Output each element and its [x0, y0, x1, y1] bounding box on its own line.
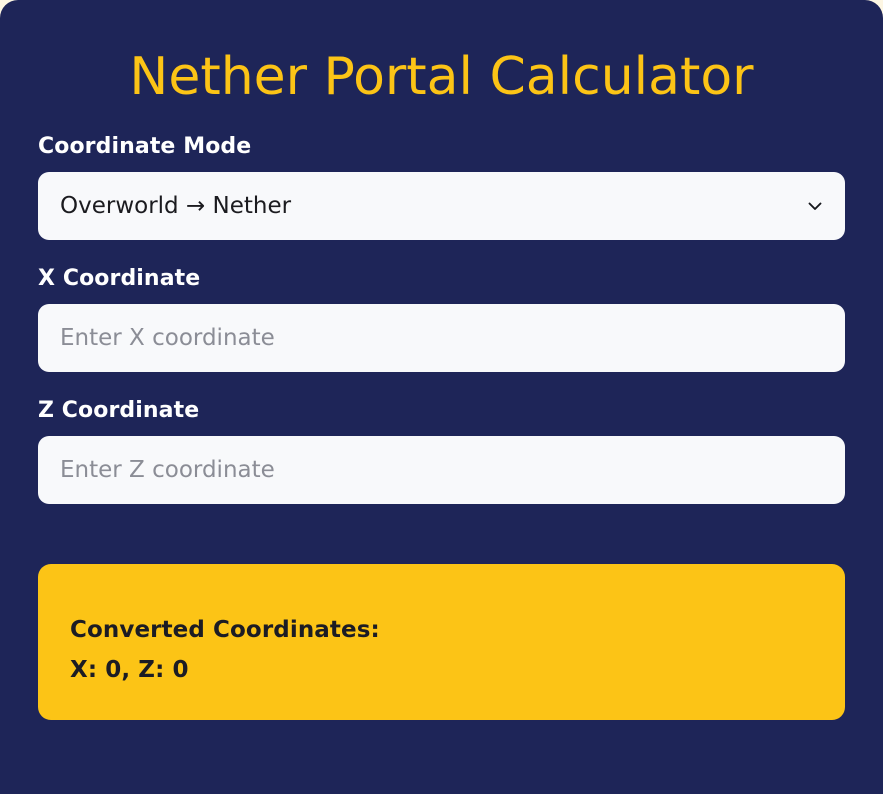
coordinate-mode-field-group: Coordinate Mode Overworld → Nether Nethe… — [38, 134, 845, 240]
x-coordinate-field-group: X Coordinate — [38, 266, 845, 372]
result-coordinates: X: 0, Z: 0 — [70, 650, 813, 690]
coordinate-mode-select[interactable]: Overworld → Nether Nether → Overworld — [38, 172, 845, 240]
z-coordinate-field-group: Z Coordinate — [38, 398, 845, 504]
coordinate-mode-label: Coordinate Mode — [38, 134, 845, 160]
result-heading: Converted Coordinates: — [70, 610, 813, 650]
z-coordinate-label: Z Coordinate — [38, 398, 845, 424]
x-coordinate-input[interactable] — [38, 304, 845, 372]
converted-coordinates-panel: Converted Coordinates: X: 0, Z: 0 — [38, 564, 845, 720]
coordinate-mode-select-wrap: Overworld → Nether Nether → Overworld — [38, 172, 845, 240]
x-coordinate-label: X Coordinate — [38, 266, 845, 292]
nether-portal-calculator-card: Nether Portal Calculator Coordinate Mode… — [0, 0, 883, 794]
page-title: Nether Portal Calculator — [38, 0, 845, 108]
z-coordinate-input[interactable] — [38, 436, 845, 504]
